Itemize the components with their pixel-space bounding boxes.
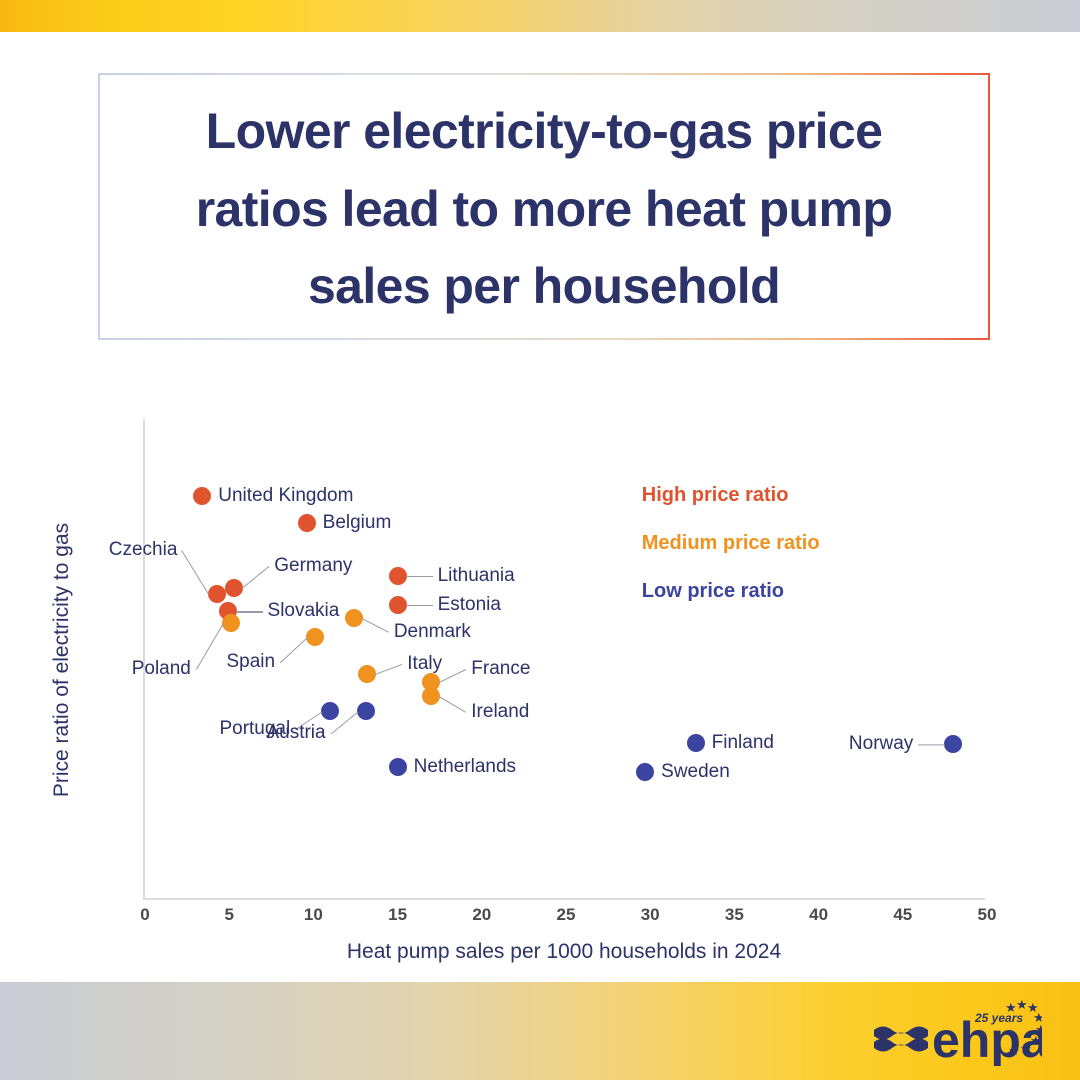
x-tick-50: 50 bbox=[957, 905, 1017, 925]
legend-item-medium[interactable]: Medium price ratio bbox=[642, 532, 820, 555]
leader-line-spain bbox=[280, 638, 308, 664]
point-label-spain: Spain bbox=[226, 651, 275, 673]
svg-text:★: ★ bbox=[1005, 1000, 1017, 1015]
leader-line-slovakia bbox=[236, 611, 263, 612]
data-point-finland[interactable] bbox=[687, 734, 705, 752]
x-tick-15: 15 bbox=[368, 905, 428, 925]
svg-text:★: ★ bbox=[1020, 1041, 1032, 1056]
x-tick-35: 35 bbox=[704, 905, 764, 925]
legend-item-high[interactable]: High price ratio bbox=[642, 484, 789, 507]
data-point-germany[interactable] bbox=[225, 579, 243, 597]
x-tick-20: 20 bbox=[452, 905, 512, 925]
title-card: Lower electricity-to-gas price ratios le… bbox=[98, 73, 990, 340]
point-label-france: France bbox=[471, 658, 530, 680]
point-label-netherlands: Netherlands bbox=[414, 756, 516, 778]
data-point-austria[interactable] bbox=[357, 702, 375, 720]
point-label-germany: Germany bbox=[274, 555, 352, 577]
x-tick-0: 0 bbox=[115, 905, 175, 925]
point-label-finland: Finland bbox=[712, 732, 774, 754]
svg-text:★: ★ bbox=[1008, 1043, 1020, 1058]
point-label-belgium: Belgium bbox=[323, 512, 392, 534]
leader-line-italy bbox=[375, 664, 402, 675]
point-label-norway: Norway bbox=[849, 733, 913, 755]
legend-item-low[interactable]: Low price ratio bbox=[642, 580, 784, 603]
page-title: Lower electricity-to-gas price ratios le… bbox=[100, 75, 988, 326]
x-tick-10: 10 bbox=[283, 905, 343, 925]
point-label-ireland: Ireland bbox=[471, 701, 529, 723]
data-point-united-kingdom[interactable] bbox=[193, 487, 211, 505]
ehpa-logo: ehpa 25 years ★★★ ★★★ ★★ bbox=[872, 1000, 1042, 1066]
x-tick-45: 45 bbox=[873, 905, 933, 925]
leader-line-denmark bbox=[361, 618, 389, 633]
data-point-norway[interactable] bbox=[944, 735, 962, 753]
leader-line-france bbox=[439, 669, 467, 683]
point-label-poland: Poland bbox=[132, 658, 191, 680]
leader-line-lithuania bbox=[406, 576, 433, 577]
data-point-sweden[interactable] bbox=[636, 763, 654, 781]
data-point-lithuania[interactable] bbox=[389, 567, 407, 585]
point-label-austria: Austria bbox=[266, 722, 325, 744]
plot-area: 012345 05101520253035404550 United Kingd… bbox=[143, 419, 985, 900]
x-tick-30: 30 bbox=[620, 905, 680, 925]
x-tick-25: 25 bbox=[536, 905, 596, 925]
leader-line-estonia bbox=[406, 605, 433, 606]
data-point-poland[interactable] bbox=[222, 614, 240, 632]
data-point-estonia[interactable] bbox=[389, 596, 407, 614]
leader-line-germany bbox=[242, 566, 270, 589]
point-label-united-kingdom: United Kingdom bbox=[218, 485, 353, 507]
x-axis-label: Heat pump sales per 1000 households in 2… bbox=[347, 940, 781, 964]
x-tick-40: 40 bbox=[789, 905, 849, 925]
leader-line-czechia bbox=[182, 550, 210, 595]
svg-text:★: ★ bbox=[1016, 1000, 1028, 1012]
data-point-ireland[interactable] bbox=[422, 687, 440, 705]
data-point-portugal[interactable] bbox=[321, 702, 339, 720]
data-point-italy[interactable] bbox=[358, 665, 376, 683]
svg-text:★: ★ bbox=[1030, 1033, 1042, 1048]
scatter-chart: Price ratio of electricity to gas Heat p… bbox=[0, 360, 1080, 980]
point-label-sweden: Sweden bbox=[661, 761, 730, 783]
y-axis-label: Price ratio of electricity to gas bbox=[50, 523, 74, 797]
leader-line-ireland bbox=[439, 696, 467, 713]
data-point-spain[interactable] bbox=[306, 628, 324, 646]
data-point-denmark[interactable] bbox=[345, 609, 363, 627]
leader-line-norway bbox=[918, 744, 945, 745]
x-tick-5: 5 bbox=[199, 905, 259, 925]
top-brand-band bbox=[0, 0, 1080, 32]
leader-line-poland bbox=[195, 623, 223, 670]
point-label-lithuania: Lithuania bbox=[438, 565, 515, 587]
point-label-estonia: Estonia bbox=[438, 594, 501, 616]
point-label-denmark: Denmark bbox=[394, 621, 471, 643]
bottom-brand-band: ehpa 25 years ★★★ ★★★ ★★ bbox=[0, 982, 1080, 1080]
data-point-belgium[interactable] bbox=[298, 514, 316, 532]
data-point-czechia[interactable] bbox=[208, 585, 226, 603]
point-label-czechia: Czechia bbox=[109, 539, 178, 561]
point-label-slovakia: Slovakia bbox=[268, 600, 340, 622]
data-point-netherlands[interactable] bbox=[389, 758, 407, 776]
point-label-italy: Italy bbox=[407, 653, 442, 675]
